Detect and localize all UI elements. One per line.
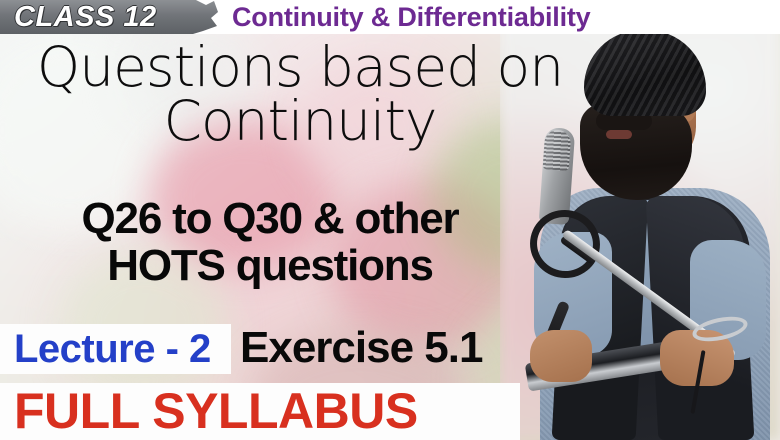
class-badge: CLASS 12 [0, 0, 218, 34]
lecture-label: Lecture - 2 [14, 324, 211, 374]
subheadline-line-2: HOTS questions [0, 243, 540, 290]
headline-line-2: Continuity [0, 94, 600, 148]
presenter-mouth [606, 130, 632, 139]
subheadline: Q26 to Q30 & other HOTS questions [0, 196, 540, 289]
headline: Questions based on Continuity [0, 40, 600, 149]
chapter-title: Continuity & Differentiability [232, 0, 591, 34]
subheadline-line-1: Q26 to Q30 & other [82, 194, 459, 243]
class-badge-label: CLASS 12 [0, 0, 218, 34]
presenter-left-hand [530, 330, 592, 382]
video-thumbnail: CLASS 12 Continuity & Differentiability … [0, 0, 780, 440]
exercise-label: Exercise 5.1 [240, 322, 482, 374]
full-syllabus-label: FULL SYLLABUS [14, 383, 418, 440]
